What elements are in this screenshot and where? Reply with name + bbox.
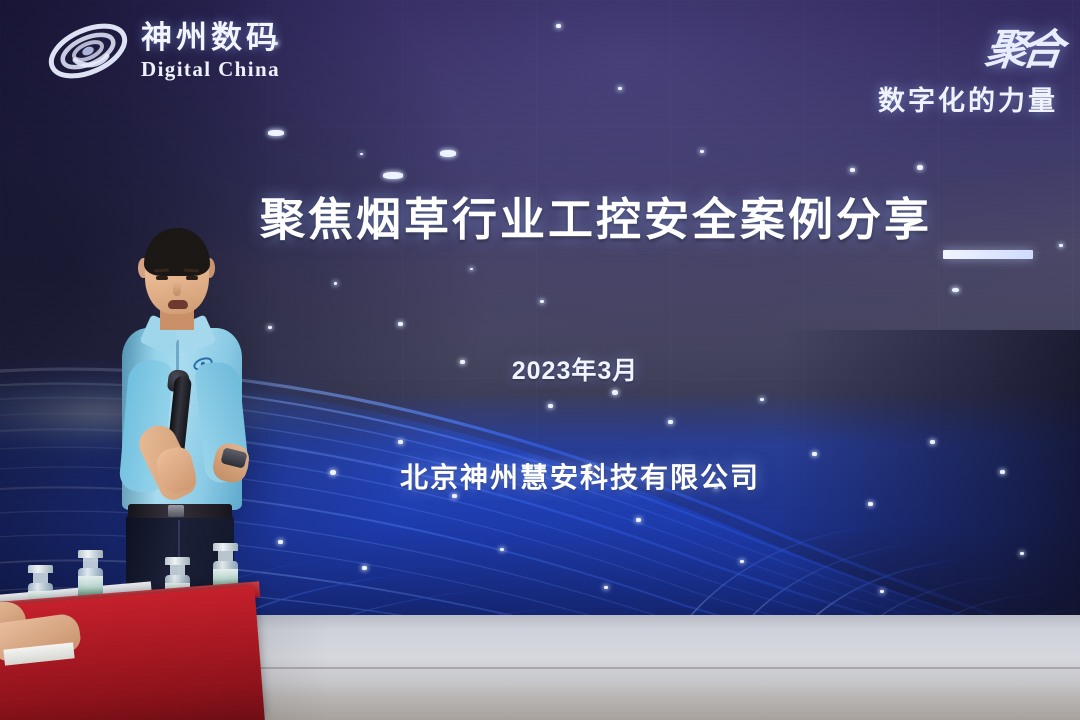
brand-name-cn: 神州数码: [141, 22, 281, 53]
bottle-cap: [28, 565, 53, 573]
event-slogan-logo: 聚合 数字化的力量: [878, 16, 1058, 118]
light-particle: [548, 404, 553, 408]
bottle-neck: [218, 551, 233, 561]
light-particle: [268, 130, 284, 136]
eye-left: [156, 276, 168, 280]
light-particle: [760, 398, 764, 401]
light-particle: [470, 268, 473, 270]
slide-accent-bar: [943, 250, 1033, 259]
light-particle: [880, 590, 884, 593]
nose: [173, 282, 181, 296]
light-particle: [952, 288, 959, 292]
light-particle: [362, 566, 367, 570]
light-particle: [868, 502, 873, 506]
digital-china-wordmark: 神州数码 Digital China: [141, 22, 281, 80]
belt-buckle: [168, 505, 184, 517]
light-particle: [500, 548, 504, 551]
light-particle: [383, 172, 403, 179]
light-particle: [618, 87, 622, 90]
eye-right: [186, 276, 198, 280]
light-particle: [930, 440, 935, 444]
light-particle: [668, 420, 673, 424]
light-particle: [700, 150, 704, 153]
bottle-neck: [83, 558, 98, 568]
digital-china-logo: 神州数码 Digital China: [45, 18, 281, 84]
bottle-neck: [170, 565, 185, 575]
bottle-cap: [165, 557, 190, 565]
event-subtitle: 数字化的力量: [878, 79, 1058, 118]
bottle-neck: [33, 573, 48, 583]
brand-name-en: Digital China: [141, 59, 281, 80]
light-particle: [604, 586, 608, 589]
digital-china-swirl-icon: [45, 18, 131, 84]
event-calligraphy: 聚合: [982, 16, 1062, 77]
light-particle: [334, 282, 337, 285]
mouth: [168, 300, 188, 309]
light-particle: [612, 390, 618, 395]
light-particle: [740, 560, 744, 563]
bottle-cap: [213, 543, 238, 551]
light-particle: [398, 440, 403, 444]
light-particle: [360, 153, 363, 155]
light-particle: [636, 518, 641, 522]
light-particle: [440, 150, 456, 157]
light-particle: [917, 165, 923, 170]
light-particle: [540, 300, 544, 303]
light-particle: [398, 322, 403, 326]
light-particle: [556, 24, 561, 28]
light-particle: [850, 168, 855, 172]
stage-scene: 聚焦烟草行业工控安全案例分享 2023年3月 北京神州慧安科技有限公司 神州数码…: [0, 0, 1080, 720]
light-particle: [1020, 552, 1024, 555]
bottle-cap: [78, 550, 103, 558]
